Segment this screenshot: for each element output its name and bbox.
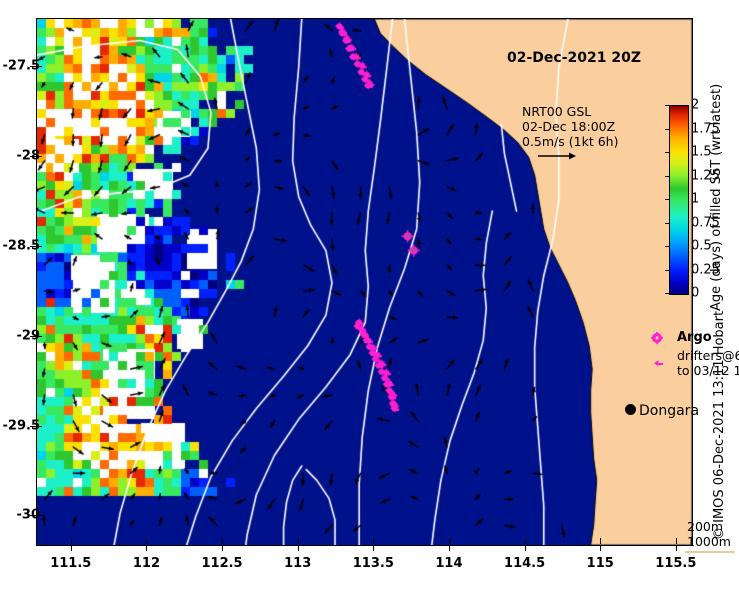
x-axis-tick-inner — [222, 538, 223, 544]
colorbar-tick — [665, 176, 670, 177]
x-axis-tick-label: 114 — [435, 556, 462, 571]
colorbar-gradient — [669, 105, 689, 295]
velocity-scale-line: 0.5m/s (1kt 6h) — [522, 134, 618, 149]
colorbar-tick-label: 1 — [691, 192, 699, 207]
x-axis-tick — [298, 545, 299, 551]
x-axis-tick — [676, 545, 677, 551]
x-axis-tick — [71, 545, 72, 551]
x-axis-tick — [373, 545, 374, 551]
x-axis-tick-inner — [373, 538, 374, 544]
x-axis-tick-inner — [298, 538, 299, 544]
x-axis-tick-label: 115.5 — [655, 556, 696, 571]
drifter-marker-icon — [652, 359, 664, 368]
city-label-dongara: Dongara — [639, 403, 699, 419]
city-marker-dongara — [625, 404, 636, 415]
depth-key-underline — [685, 551, 735, 553]
x-axis-tick — [222, 545, 223, 551]
colorbar-tick — [665, 293, 670, 294]
colorbar-tick — [665, 105, 670, 106]
x-axis-tick-inner — [676, 538, 677, 544]
colorbar-tick — [665, 199, 670, 200]
x-axis-tick — [525, 545, 526, 551]
figure-root: 02-Dec-2021 20Z NRT00 GSL 02-Dec 18:00Z … — [0, 0, 739, 592]
velocity-reference-arrow-icon — [537, 150, 577, 162]
y-axis-tick-label: -29 — [17, 328, 41, 343]
y-axis-tick-label: -30 — [17, 508, 41, 523]
x-axis-tick-inner — [449, 538, 450, 544]
x-axis-tick — [600, 545, 601, 551]
colorbar-tick-label: 2 — [691, 98, 699, 113]
x-axis-tick-inner — [71, 538, 72, 544]
source-model-line: NRT00 GSL — [522, 104, 618, 119]
y-axis-tick-label: -29.5 — [3, 418, 40, 433]
x-axis-tick-label: 114.5 — [504, 556, 545, 571]
x-axis-tick-label: 111.5 — [50, 556, 91, 571]
colorbar-tick — [665, 270, 670, 271]
colorbar-tick — [665, 152, 670, 153]
x-axis-tick-label: 115 — [587, 556, 614, 571]
colorbar-tick — [665, 223, 670, 224]
x-axis-tick-inner — [600, 538, 601, 544]
y-axis-tick-label: -28 — [17, 149, 41, 164]
x-axis-tick-inner — [146, 538, 147, 544]
x-axis-tick-inner — [525, 538, 526, 544]
x-axis-tick-label: 113 — [284, 556, 311, 571]
source-info-block: NRT00 GSL 02-Dec 18:00Z 0.5m/s (1kt 6h) — [522, 104, 618, 149]
legend-label-drifters-line2: to 03/12 12Z — [677, 364, 739, 378]
source-time-line: 02-Dec 18:00Z — [522, 119, 618, 134]
copyright-text: © IMOS 06-Dec-2021 13:11 Hobart — [712, 311, 727, 540]
x-axis-tick-label: 112 — [133, 556, 160, 571]
x-axis-tick — [449, 545, 450, 551]
sst-age-map-canvas[interactable] — [37, 19, 692, 545]
colorbar-tick — [665, 129, 670, 130]
map-plot-area[interactable]: 02-Dec-2021 20Z NRT00 GSL 02-Dec 18:00Z … — [36, 18, 693, 546]
legend-label-argo: Argo — [677, 331, 712, 345]
y-axis-tick-label: -27.5 — [3, 59, 40, 74]
y-axis-tick-label: -28.5 — [3, 238, 40, 253]
colorbar-tick — [665, 246, 670, 247]
x-axis-tick — [146, 545, 147, 551]
argo-marker-icon — [651, 332, 663, 344]
x-axis-tick-label: 112.5 — [201, 556, 242, 571]
x-axis-tick-label: 113.5 — [353, 556, 394, 571]
colorbar-title: Age (days) of filled SST (wrt latest) — [709, 91, 724, 311]
colorbar: 00.250.50.7511.251.51.752 — [669, 105, 687, 293]
legend-label-drifters-line1: drifters@6h — [677, 349, 739, 363]
date-title: 02-Dec-2021 20Z — [507, 50, 641, 66]
colorbar-tick-label: 0 — [691, 286, 699, 301]
